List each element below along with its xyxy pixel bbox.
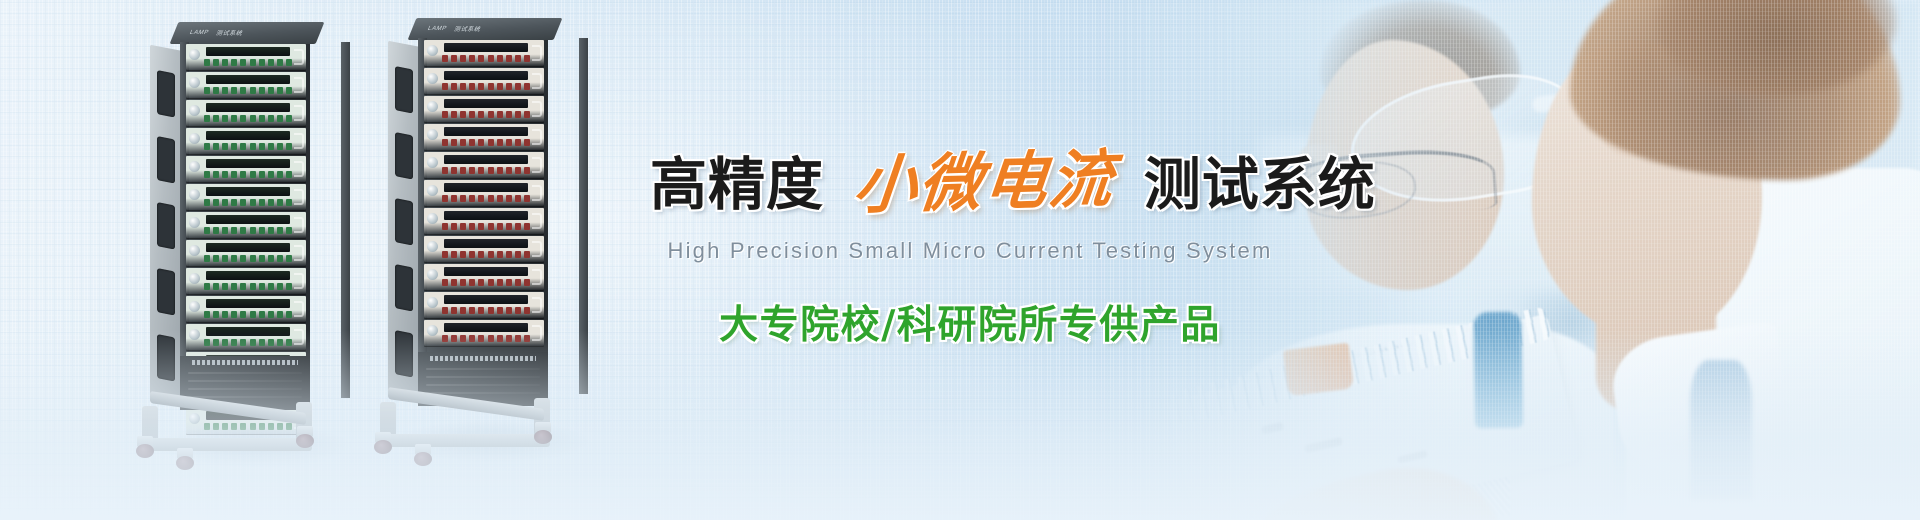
page-title: 高精度 小微电流 测试系统 — [650, 150, 1290, 216]
unit-port-row — [204, 58, 292, 67]
unit-knob — [427, 241, 438, 252]
unit-handle — [294, 161, 304, 177]
unit-port-row — [204, 142, 292, 151]
unit-display — [444, 211, 528, 220]
unit-display — [206, 271, 290, 280]
unit-knob — [189, 105, 200, 116]
bottom-fade — [0, 330, 1920, 520]
unit-display — [206, 187, 290, 196]
unit-handle — [294, 133, 304, 149]
rack-logo-left: LAMP — [189, 30, 210, 36]
unit-port-row — [442, 54, 530, 63]
rack-unit — [186, 128, 306, 154]
unit-handle — [532, 241, 542, 257]
unit-port-row — [442, 250, 530, 259]
unit-port-row — [442, 110, 530, 119]
unit-handle — [532, 269, 542, 285]
rack-unit — [186, 44, 306, 70]
rack-unit — [186, 72, 306, 98]
unit-display — [444, 99, 528, 108]
unit-handle — [294, 49, 304, 65]
unit-knob — [427, 45, 438, 56]
unit-port-row — [442, 166, 530, 175]
unit-port-row — [442, 82, 530, 91]
rack-unit — [424, 68, 544, 94]
unit-port-row — [204, 170, 292, 179]
unit-handle — [532, 185, 542, 201]
unit-knob — [427, 101, 438, 112]
unit-port-row — [442, 306, 530, 315]
unit-display — [444, 127, 528, 136]
rack-unit — [186, 100, 306, 126]
rack-unit — [186, 212, 306, 238]
unit-port-row — [442, 222, 530, 231]
rack-brand-label: LAMP 测试系统 — [426, 23, 520, 34]
unit-knob — [427, 269, 438, 280]
unit-handle — [532, 101, 542, 117]
rack-unit — [186, 184, 306, 210]
rack-unit — [186, 268, 306, 294]
unit-knob — [189, 245, 200, 256]
unit-handle — [294, 273, 304, 289]
unit-display — [444, 155, 528, 164]
rack-unit — [424, 96, 544, 122]
unit-handle — [532, 45, 542, 61]
rack-unit — [424, 236, 544, 262]
unit-knob — [427, 185, 438, 196]
headline-prefix: 高精度 — [650, 152, 824, 218]
rack-unit — [424, 264, 544, 290]
headline-accent: 小微电流 — [850, 147, 1117, 219]
unit-handle — [532, 129, 542, 145]
unit-display — [206, 75, 290, 84]
unit-display — [206, 159, 290, 168]
unit-knob — [427, 157, 438, 168]
unit-port-row — [442, 194, 530, 203]
unit-handle — [294, 301, 304, 317]
subtitle-english: High Precision Small Micro Current Testi… — [650, 238, 1290, 264]
rack-unit — [424, 292, 544, 318]
unit-display — [444, 267, 528, 276]
unit-handle — [294, 77, 304, 93]
unit-knob — [189, 161, 200, 172]
unit-display — [444, 183, 528, 192]
rack-unit — [186, 240, 306, 266]
unit-display — [444, 71, 528, 80]
unit-display — [444, 239, 528, 248]
rack-logo-right: 测试系统 — [453, 24, 483, 33]
unit-knob — [189, 189, 200, 200]
rack-unit — [424, 124, 544, 150]
unit-port-row — [204, 226, 292, 235]
headline-suffix: 测试系统 — [1144, 152, 1376, 218]
unit-display — [206, 299, 290, 308]
unit-knob — [189, 217, 200, 228]
unit-handle — [532, 213, 542, 229]
unit-display — [206, 243, 290, 252]
unit-handle — [294, 245, 304, 261]
rack-unit — [424, 40, 544, 66]
unit-knob — [427, 297, 438, 308]
rack-unit — [424, 208, 544, 234]
unit-handle — [532, 73, 542, 89]
unit-knob — [427, 213, 438, 224]
unit-display — [206, 131, 290, 140]
unit-handle — [294, 217, 304, 233]
unit-port-row — [204, 282, 292, 291]
unit-handle — [532, 297, 542, 313]
rack-logo-right: 测试系统 — [215, 28, 245, 37]
unit-display — [444, 295, 528, 304]
rack-brand-label: LAMP 测试系统 — [188, 27, 282, 38]
unit-knob — [189, 77, 200, 88]
unit-display — [206, 215, 290, 224]
unit-knob — [189, 273, 200, 284]
unit-knob — [189, 49, 200, 60]
unit-display — [206, 103, 290, 112]
rack-unit-list — [424, 40, 544, 348]
unit-knob — [427, 73, 438, 84]
unit-port-row — [204, 310, 292, 319]
unit-port-row — [442, 138, 530, 147]
unit-port-row — [204, 254, 292, 263]
unit-knob — [189, 301, 200, 312]
promo-banner: LAMP 测试系统 — [0, 0, 1920, 520]
unit-port-row — [204, 86, 292, 95]
unit-handle — [532, 157, 542, 173]
rack-unit — [424, 180, 544, 206]
unit-port-row — [204, 198, 292, 207]
unit-knob — [189, 133, 200, 144]
unit-handle — [294, 189, 304, 205]
banner-copy: 高精度 小微电流 测试系统 High Precision Small Micro… — [650, 150, 1290, 350]
rack-unit — [186, 296, 306, 322]
unit-knob — [427, 129, 438, 140]
rack-unit — [424, 152, 544, 178]
unit-handle — [294, 105, 304, 121]
unit-display — [206, 47, 290, 56]
tagline: 大专院校/科研院所专供产品 — [650, 294, 1290, 350]
unit-port-row — [204, 114, 292, 123]
rack-logo-left: LAMP — [427, 26, 448, 32]
unit-display — [444, 43, 528, 52]
unit-port-row — [442, 278, 530, 287]
rack-unit — [186, 156, 306, 182]
